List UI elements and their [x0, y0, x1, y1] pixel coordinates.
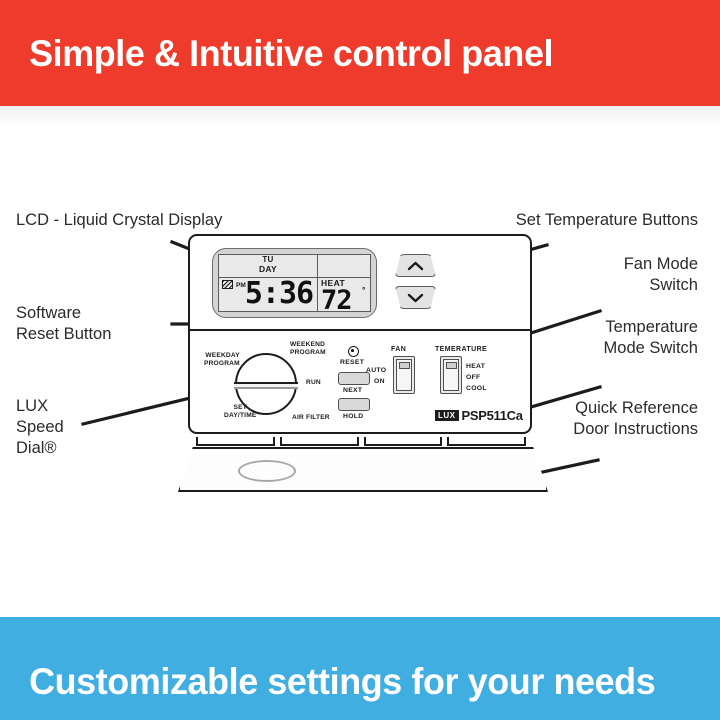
- software-reset-button[interactable]: [348, 346, 359, 357]
- bottom-banner: Customizable settings for your needs: [0, 617, 720, 720]
- temperature-option-heat: HEAT: [466, 363, 485, 370]
- lcd-time: 5:36: [241, 277, 317, 310]
- model-number: PSP511Ca: [462, 408, 523, 423]
- set-temperature-down-button[interactable]: [395, 286, 436, 309]
- callout-software-reset-label: Software Reset Button: [16, 303, 111, 345]
- callout-lcd-label: LCD - Liquid Crystal Display: [16, 210, 222, 231]
- lcd-bezel: TU DAY PM 5:36 HEAT 72 °: [212, 248, 377, 318]
- dial-label-set-day-time: SET DAY/TIME: [224, 404, 257, 420]
- door-tab: [196, 437, 275, 446]
- door-tab: [447, 437, 526, 446]
- door-tab: [364, 437, 443, 446]
- door-grip-oval: [238, 460, 296, 482]
- hold-button-label: HOLD: [343, 413, 363, 420]
- door-hinge-tabs: [196, 437, 526, 446]
- thermostat-diagram: LCD - Liquid Crystal Display Software Re…: [0, 106, 720, 617]
- temperature-option-cool: COOL: [466, 385, 487, 392]
- reset-button-label: RESET: [340, 359, 364, 366]
- dial-label-weekend-program: WEEKEND PROGRAM: [290, 341, 326, 357]
- lcd-day-label: DAY: [219, 264, 317, 274]
- top-banner: Simple & Intuitive control panel: [0, 0, 720, 106]
- callout-lux-speed-dial-label: LUX Speed Dial®: [16, 396, 64, 459]
- chevron-down-icon: [407, 293, 424, 303]
- thermostat-body: TU DAY PM 5:36 HEAT 72 °: [188, 234, 532, 434]
- fan-mode-switch[interactable]: [393, 356, 415, 394]
- infographic-page: Simple & Intuitive control panel LCD - L…: [0, 0, 720, 720]
- fan-switch-lever[interactable]: [399, 362, 410, 369]
- fan-switch-title: FAN: [391, 346, 406, 353]
- set-temperature-up-button[interactable]: [395, 254, 436, 277]
- temperature-switch-track: [443, 359, 459, 391]
- door-tab: [280, 437, 359, 446]
- lcd-temperature: 72: [321, 286, 352, 312]
- dial-label-air-filter: AIR FILTER: [292, 414, 330, 422]
- lcd-vertical-divider: [317, 255, 318, 311]
- dial-label-weekday-program: WEEKDAY PROGRAM: [204, 352, 240, 368]
- next-button-label: NEXT: [343, 387, 362, 394]
- schedule-icon: [222, 280, 233, 289]
- lux-logo: LUX: [435, 410, 459, 421]
- chevron-up-icon: [407, 261, 424, 271]
- temperature-option-off: OFF: [466, 374, 481, 381]
- lcd-day-abbrev: TU: [219, 255, 317, 264]
- lcd-screen: TU DAY PM 5:36 HEAT 72 °: [218, 254, 371, 312]
- fan-switch-track: [396, 359, 412, 391]
- temperature-switch-lever[interactable]: [446, 362, 457, 369]
- fan-option-on: ON: [374, 378, 385, 385]
- callout-set-temperature-label: Set Temperature Buttons: [438, 210, 698, 231]
- body-divider: [190, 329, 530, 331]
- fan-option-auto: AUTO: [366, 367, 386, 374]
- quick-reference-door[interactable]: [178, 447, 548, 492]
- brand-badge: LUX PSP511Ca: [435, 408, 523, 423]
- dial-pointer: [234, 382, 298, 389]
- temperature-mode-switch[interactable]: [440, 356, 462, 394]
- lcd-degree-symbol: °: [362, 285, 366, 295]
- temperature-switch-title: TEMERATURE: [435, 346, 487, 353]
- bottom-banner-text: Customizable settings for your needs: [0, 661, 655, 703]
- hold-button[interactable]: [338, 398, 370, 411]
- top-banner-text: Simple & Intuitive control panel: [0, 33, 553, 75]
- dial-label-run: RUN: [306, 379, 321, 387]
